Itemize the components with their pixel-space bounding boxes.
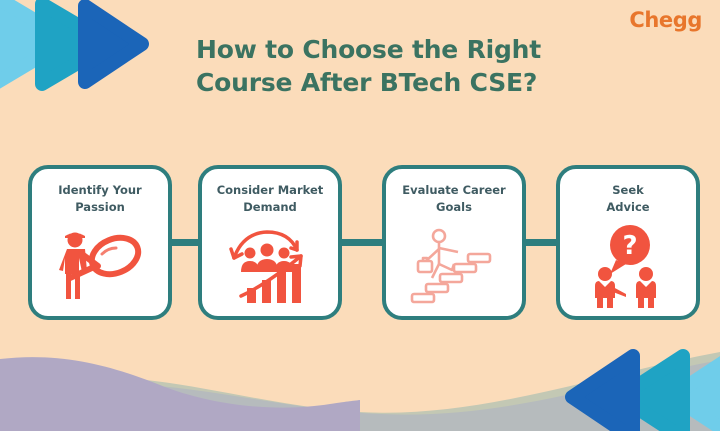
step-card-label: Identify Your Passion	[40, 182, 160, 215]
step-icon-wrap	[202, 215, 338, 316]
step-label-line-1: Evaluate Career	[402, 183, 505, 197]
steps-row: Identify Your Passion	[0, 165, 720, 322]
triangle-dark-blue-left-icon	[572, 356, 633, 431]
step-card-label: Consider Market Demand	[210, 182, 330, 215]
step-card-label: Seek Advice	[568, 182, 688, 215]
page-title: How to Choose the Right Course After BTe…	[196, 33, 616, 99]
svg-text:?: ?	[622, 231, 637, 261]
connector-3-4	[522, 239, 560, 246]
title-line-1: How to Choose the Right	[196, 33, 616, 66]
step-label-line-2: Demand	[243, 200, 297, 214]
step-label-line-1: Consider Market	[217, 183, 324, 197]
step-label-line-1: Seek	[612, 183, 644, 197]
person-with-magnifying-glass-icon	[52, 226, 148, 306]
wave-purple-shape	[0, 357, 360, 431]
connector-1-2	[168, 239, 202, 246]
person-climbing-stairs-briefcase-icon	[406, 226, 502, 306]
step-label-line-2: Advice	[606, 200, 649, 214]
triangle-teal-icon	[42, 4, 110, 84]
wave-gray-shape	[0, 360, 720, 431]
wave-sage-shape	[0, 352, 720, 431]
step-label-line-1: Identify Your	[58, 183, 141, 197]
connector-2-3	[338, 239, 386, 246]
triangle-teal-left-icon	[620, 356, 683, 431]
step-label-line-2: Passion	[75, 200, 125, 214]
infographic-canvas: Chegg How to Choose the Right Course Aft…	[0, 0, 720, 431]
people-bar-chart-growth-icon	[221, 226, 319, 306]
chegg-logo: Chegg	[629, 8, 702, 32]
step-card-identify-your-passion[interactable]: Identify Your Passion	[28, 165, 172, 320]
title-line-2: Course After BTech CSE?	[196, 66, 616, 99]
triangle-light-blue-left-icon	[672, 358, 720, 431]
step-card-evaluate-career-goals[interactable]: Evaluate Career Goals	[382, 165, 526, 320]
step-label-line-2: Goals	[436, 200, 472, 214]
step-card-label: Evaluate Career Goals	[394, 182, 514, 215]
step-icon-wrap	[386, 215, 522, 316]
triangle-light-blue-icon	[0, 0, 68, 84]
step-icon-wrap: ?	[560, 215, 696, 316]
step-icon-wrap	[32, 215, 168, 316]
triangle-dark-blue-icon	[85, 6, 142, 82]
step-card-consider-market-demand[interactable]: Consider Market Demand	[198, 165, 342, 320]
step-card-seek-advice[interactable]: Seek Advice ?	[556, 165, 700, 320]
two-people-question-bubble-icon: ?	[580, 224, 676, 308]
